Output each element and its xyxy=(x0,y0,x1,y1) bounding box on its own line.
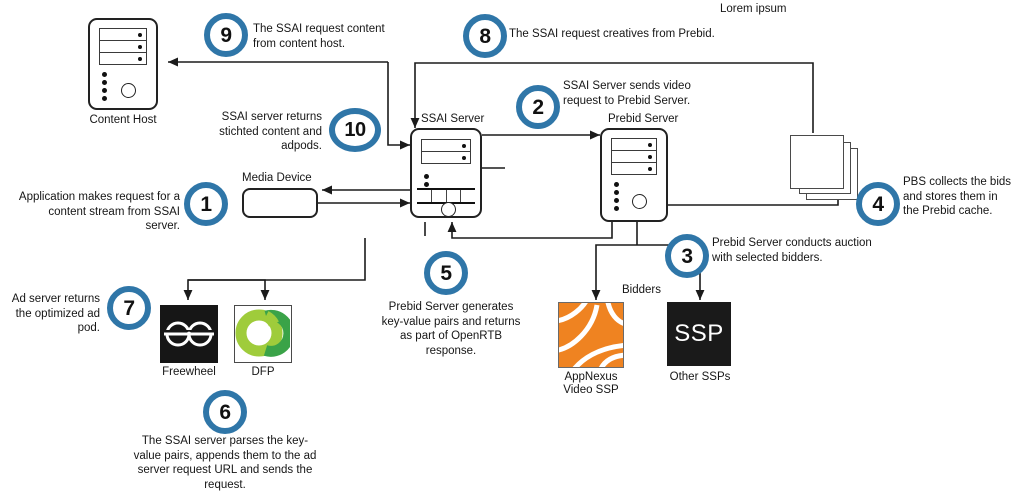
step-number: 3 xyxy=(681,246,692,267)
step-caption-1: Application makes request for a content … xyxy=(14,190,180,234)
slot xyxy=(461,190,475,202)
appnexus-glyph-icon xyxy=(559,303,623,367)
other-ssps-label: Other SSPs xyxy=(655,371,745,383)
slot xyxy=(432,190,447,202)
bay xyxy=(612,163,656,174)
content-host-leds xyxy=(102,72,107,101)
dfp-logo[interactable] xyxy=(234,305,292,363)
step-badge-1[interactable]: 1 xyxy=(184,182,228,226)
step-number: 10 xyxy=(344,120,365,140)
step-caption-7: Ad server returns the optimized ad pod. xyxy=(0,292,100,336)
step-badge-6[interactable]: 6 xyxy=(203,390,247,434)
step-badge-3[interactable]: 3 xyxy=(665,234,709,278)
bay-led-icon xyxy=(462,144,466,148)
step-badge-8[interactable]: 8 xyxy=(463,14,507,58)
led-icon xyxy=(102,96,107,101)
bay-led-icon xyxy=(138,33,142,37)
prebid-cache-card-front[interactable] xyxy=(790,135,844,189)
step-number: 5 xyxy=(440,263,451,284)
step-number: 7 xyxy=(123,298,134,319)
bay xyxy=(100,53,146,64)
appnexus-logo[interactable] xyxy=(558,302,624,368)
slot xyxy=(447,190,462,202)
ssai-server-node[interactable] xyxy=(410,128,482,218)
media-device-label: Media Device xyxy=(242,172,312,184)
slot xyxy=(417,190,432,202)
step-number: 9 xyxy=(220,25,231,46)
step-caption-5: Prebid Server generates key-value pairs … xyxy=(378,300,524,359)
bay-led-icon xyxy=(648,143,652,147)
step-number: 8 xyxy=(479,26,490,47)
other-ssps-logo[interactable]: SSP xyxy=(667,302,731,366)
step-number: 6 xyxy=(219,402,230,423)
step-badge-9[interactable]: 9 xyxy=(204,13,248,57)
step-caption-9: The SSAI request content from content ho… xyxy=(253,22,403,51)
prebid-server-label: Prebid Server xyxy=(608,113,678,125)
step-number: 2 xyxy=(532,97,543,118)
lorem-ipsum-note: Lorem ipsum xyxy=(720,3,786,15)
freewheel-logo[interactable] xyxy=(160,305,218,363)
freewheel-label: Freewheel xyxy=(150,366,228,378)
bay xyxy=(422,140,470,152)
diagram-canvas: Content Host SSAI Server xyxy=(0,0,1015,473)
prebid-server-node[interactable] xyxy=(600,128,668,222)
led-icon xyxy=(424,174,429,179)
step-caption-4: PBS collects the bids and stores them in… xyxy=(903,175,1015,219)
step-caption-6: The SSAI server parses the key-value pai… xyxy=(131,434,319,493)
bay-led-icon xyxy=(648,167,652,171)
step-number: 4 xyxy=(872,194,883,215)
bay xyxy=(422,152,470,163)
content-host-bays xyxy=(99,28,147,65)
led-icon xyxy=(614,182,619,187)
led-icon xyxy=(614,190,619,195)
appnexus-label-line2: Video SSP xyxy=(541,384,641,396)
content-host-node[interactable] xyxy=(88,18,158,110)
prebid-leds xyxy=(614,182,619,211)
appnexus-label-line1: AppNexus xyxy=(541,371,641,383)
step-number: 1 xyxy=(200,194,211,215)
content-host-label: Content Host xyxy=(78,114,168,126)
ssai-server-label: SSAI Server xyxy=(421,113,484,125)
bay xyxy=(100,41,146,53)
freewheel-glyph-icon xyxy=(160,305,218,363)
dfp-label: DFP xyxy=(224,366,302,378)
power-button-icon[interactable] xyxy=(632,194,647,209)
step-caption-8: The SSAI request creatives from Prebid. xyxy=(509,27,769,42)
bay xyxy=(612,151,656,163)
step-caption-2: SSAI Server sends video request to Prebi… xyxy=(563,79,731,108)
step-badge-10[interactable]: 10 xyxy=(329,108,381,152)
led-icon xyxy=(614,198,619,203)
step-badge-7[interactable]: 7 xyxy=(107,286,151,330)
prebid-bays xyxy=(611,138,657,175)
led-icon xyxy=(102,88,107,93)
step-badge-4[interactable]: 4 xyxy=(856,182,900,226)
step-caption-10: SSAI server returns stichted content and… xyxy=(200,110,322,154)
led-icon xyxy=(424,182,429,187)
ssai-bays xyxy=(421,139,471,164)
dfp-glyph-icon xyxy=(235,306,290,361)
ssp-logo-text: SSP xyxy=(674,320,724,348)
ssai-leds xyxy=(424,174,429,187)
bay xyxy=(612,139,656,151)
bay-led-icon xyxy=(138,45,142,49)
step-badge-2[interactable]: 2 xyxy=(516,85,560,129)
bay-led-icon xyxy=(462,156,466,160)
led-icon xyxy=(614,206,619,211)
bay-led-icon xyxy=(648,155,652,159)
led-icon xyxy=(102,72,107,77)
bay-led-icon xyxy=(138,57,142,61)
bidders-label: Bidders xyxy=(622,284,661,296)
step-caption-3: Prebid Server conducts auction with sele… xyxy=(712,236,892,265)
led-icon xyxy=(102,80,107,85)
step-badge-5[interactable]: 5 xyxy=(424,251,468,295)
media-device-node[interactable] xyxy=(242,188,318,218)
power-button-icon[interactable] xyxy=(121,83,136,98)
power-button-icon[interactable] xyxy=(441,202,456,217)
bay xyxy=(100,29,146,41)
